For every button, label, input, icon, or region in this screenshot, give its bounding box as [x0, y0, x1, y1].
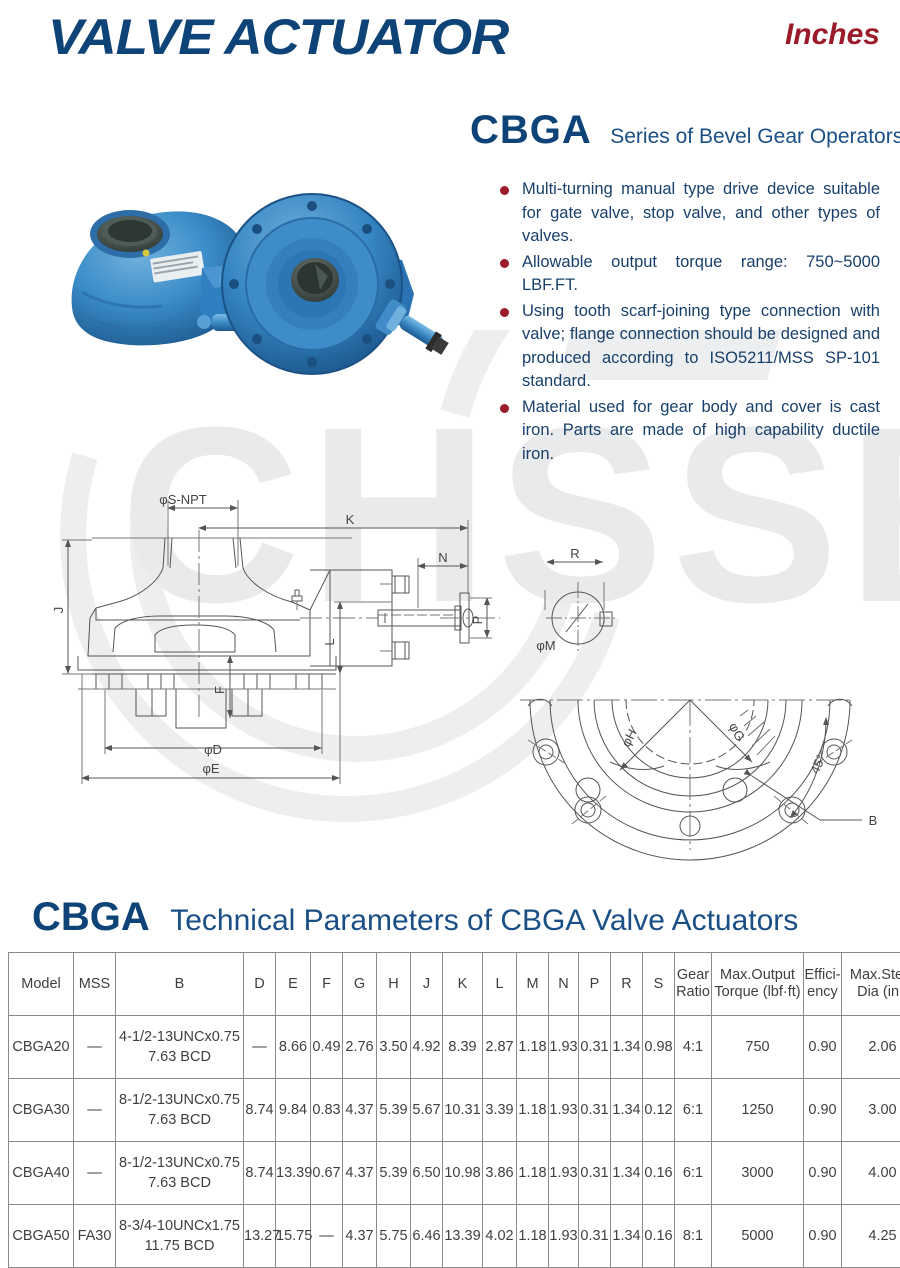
label-p: P	[470, 616, 485, 625]
col-header-l: L	[483, 953, 517, 1016]
list-item: Material used for gear body and cover is…	[500, 396, 880, 467]
col-header-stem-dia: Max.StemDia (in.)	[842, 953, 900, 1016]
list-item: Using tooth scarf-joining type connectio…	[500, 300, 880, 394]
feature-text: Multi-turning manual type drive device s…	[522, 178, 880, 249]
bullet-dot-icon	[500, 404, 509, 413]
cell-g: 4.37	[343, 1079, 377, 1142]
cell-mss: —	[74, 1079, 116, 1142]
cell-n: 1.93	[549, 1016, 579, 1079]
col-header-k: K	[443, 953, 483, 1016]
label-m: φM	[536, 638, 555, 653]
cell-s: 0.98	[643, 1016, 675, 1079]
cell-k: 8.39	[443, 1016, 483, 1079]
cell-efficiency: 0.90	[804, 1142, 842, 1205]
product-photos	[62, 172, 482, 387]
cell-m: 1.18	[517, 1016, 549, 1079]
cell-r: 1.34	[611, 1142, 643, 1205]
label-h: φH	[618, 726, 640, 749]
label-d: φD	[204, 742, 222, 757]
cell-gear-ratio: 4:1	[675, 1016, 712, 1079]
cell-stem-dia: 4.25	[842, 1205, 900, 1268]
label-l: L	[322, 638, 337, 645]
product-photo-illustration	[62, 172, 482, 387]
cell-h: 5.39	[377, 1142, 411, 1205]
cell-e: 8.66	[276, 1016, 311, 1079]
cell-mss: FA30	[74, 1205, 116, 1268]
cell-k: 10.31	[443, 1079, 483, 1142]
list-item: Multi-turning manual type drive device s…	[500, 178, 880, 249]
table-row: CBGA30 — 8-1/2-13UNCx0.757.63 BCD 8.74 9…	[9, 1079, 900, 1142]
cell-k: 13.39	[443, 1205, 483, 1268]
cell-f: 0.83	[311, 1079, 343, 1142]
cell-j: 5.67	[411, 1079, 443, 1142]
cell-j: 6.46	[411, 1205, 443, 1268]
label-n: N	[438, 550, 447, 565]
cell-p: 0.31	[579, 1205, 611, 1268]
cell-k: 10.98	[443, 1142, 483, 1205]
series-description: Series of Bevel Gear Operators	[610, 125, 900, 148]
label-f: F	[212, 686, 227, 694]
cell-b: 4-1/2-13UNCx0.757.63 BCD	[116, 1016, 244, 1079]
cell-stem-dia: 3.00	[842, 1079, 900, 1142]
table-heading: CBGA Technical Parameters of CBGA Valve …	[32, 895, 798, 940]
list-item: Allowable output torque range: 750~5000 …	[500, 251, 880, 298]
cell-model: CBGA20	[9, 1016, 74, 1079]
cell-e: 13.39	[276, 1142, 311, 1205]
dimension-drawing: φS-NPT K N R φM φD φE B J L F P φH φG 45…	[0, 470, 900, 870]
cell-model: CBGA30	[9, 1079, 74, 1142]
unit-label: Inches	[785, 18, 880, 52]
cell-h: 5.75	[377, 1205, 411, 1268]
col-header-b: B	[116, 953, 244, 1016]
bullet-dot-icon	[500, 186, 509, 195]
series-heading: CBGA Series of Bevel Gear Operators	[470, 108, 900, 153]
label-g: φG	[726, 720, 748, 743]
col-header-d: D	[244, 953, 276, 1016]
col-header-r: R	[611, 953, 643, 1016]
cell-mss: —	[74, 1016, 116, 1079]
label-r: R	[570, 546, 579, 561]
spec-table: Model MSS B D E F G H J K L M N P R S Ge…	[8, 952, 900, 1268]
cell-gear-ratio: 6:1	[675, 1079, 712, 1142]
label-e: φE	[202, 761, 219, 776]
cell-model: CBGA50	[9, 1205, 74, 1268]
cell-p: 0.31	[579, 1142, 611, 1205]
cell-j: 4.92	[411, 1016, 443, 1079]
cell-e: 15.75	[276, 1205, 311, 1268]
cell-d: 13.27	[244, 1205, 276, 1268]
col-header-mss: MSS	[74, 953, 116, 1016]
cell-gear-ratio: 6:1	[675, 1142, 712, 1205]
col-header-model: Model	[9, 953, 74, 1016]
cell-e: 9.84	[276, 1079, 311, 1142]
table-row: CBGA40 — 8-1/2-13UNCx0.757.63 BCD 8.74 1…	[9, 1142, 900, 1205]
header-divider	[0, 72, 900, 74]
cell-f: 0.49	[311, 1016, 343, 1079]
bullet-dot-icon	[500, 259, 509, 268]
cell-s: 0.16	[643, 1205, 675, 1268]
cell-l: 2.87	[483, 1016, 517, 1079]
col-header-max-torque: Max.OutputTorque (lbf·ft)	[712, 953, 804, 1016]
cell-max-torque: 750	[712, 1016, 804, 1079]
table-series-code: CBGA	[32, 895, 150, 939]
page-title: VALVE ACTUATOR	[48, 8, 508, 66]
table-header-row: Model MSS B D E F G H J K L M N P R S Ge…	[9, 953, 900, 1016]
cell-max-torque: 5000	[712, 1205, 804, 1268]
cell-j: 6.50	[411, 1142, 443, 1205]
cell-stem-dia: 4.00	[842, 1142, 900, 1205]
col-header-j: J	[411, 953, 443, 1016]
cell-n: 1.93	[549, 1079, 579, 1142]
table-row: CBGA50 FA30 8-3/4-10UNCx1.7511.75 BCD 13…	[9, 1205, 900, 1268]
table-row: CBGA20 — 4-1/2-13UNCx0.757.63 BCD — 8.66…	[9, 1016, 900, 1079]
cell-p: 0.31	[579, 1079, 611, 1142]
label-angle: 45°	[807, 752, 829, 776]
cell-max-torque: 1250	[712, 1079, 804, 1142]
cell-d: 8.74	[244, 1079, 276, 1142]
cell-model: CBGA40	[9, 1142, 74, 1205]
series-code: CBGA	[470, 108, 592, 152]
col-header-m: M	[517, 953, 549, 1016]
cell-l: 3.39	[483, 1079, 517, 1142]
cell-n: 1.93	[549, 1142, 579, 1205]
page-header: VALVE ACTUATOR Inches	[0, 0, 900, 72]
cell-g: 4.37	[343, 1205, 377, 1268]
cell-m: 1.18	[517, 1205, 549, 1268]
cell-r: 1.34	[611, 1079, 643, 1142]
cell-l: 4.02	[483, 1205, 517, 1268]
col-header-h: H	[377, 953, 411, 1016]
cell-b: 8-3/4-10UNCx1.7511.75 BCD	[116, 1205, 244, 1268]
table-title: Technical Parameters of CBGA Valve Actua…	[170, 904, 798, 937]
col-header-f: F	[311, 953, 343, 1016]
cell-r: 1.34	[611, 1016, 643, 1079]
cell-f: 0.67	[311, 1142, 343, 1205]
cell-f: —	[311, 1205, 343, 1268]
actuator-right	[222, 194, 450, 374]
cell-g: 4.37	[343, 1142, 377, 1205]
feature-list: Multi-turning manual type drive device s…	[500, 178, 880, 468]
feature-text: Material used for gear body and cover is…	[522, 396, 880, 467]
col-header-g: G	[343, 953, 377, 1016]
cell-m: 1.18	[517, 1079, 549, 1142]
label-b: B	[869, 813, 878, 828]
cell-d: 8.74	[244, 1142, 276, 1205]
cell-b: 8-1/2-13UNCx0.757.63 BCD	[116, 1079, 244, 1142]
bullet-dot-icon	[500, 308, 509, 317]
col-header-p: P	[579, 953, 611, 1016]
cell-p: 0.31	[579, 1016, 611, 1079]
feature-text: Allowable output torque range: 750~5000 …	[522, 251, 880, 298]
cell-stem-dia: 2.06	[842, 1016, 900, 1079]
cell-efficiency: 0.90	[804, 1205, 842, 1268]
label-s-npt: φS-NPT	[159, 492, 206, 507]
col-header-n: N	[549, 953, 579, 1016]
cell-b: 8-1/2-13UNCx0.757.63 BCD	[116, 1142, 244, 1205]
cell-r: 1.34	[611, 1205, 643, 1268]
cell-gear-ratio: 8:1	[675, 1205, 712, 1268]
cell-s: 0.12	[643, 1079, 675, 1142]
cell-d: —	[244, 1016, 276, 1079]
cell-max-torque: 3000	[712, 1142, 804, 1205]
cell-l: 3.86	[483, 1142, 517, 1205]
feature-text: Using tooth scarf-joining type connectio…	[522, 300, 880, 394]
col-header-gear-ratio: GearRatio	[675, 953, 712, 1016]
label-k: K	[346, 512, 355, 527]
cell-h: 5.39	[377, 1079, 411, 1142]
label-j: J	[51, 607, 66, 614]
cell-efficiency: 0.90	[804, 1079, 842, 1142]
cell-n: 1.93	[549, 1205, 579, 1268]
cell-mss: —	[74, 1142, 116, 1205]
col-header-e: E	[276, 953, 311, 1016]
cell-m: 1.18	[517, 1142, 549, 1205]
cell-h: 3.50	[377, 1016, 411, 1079]
cell-g: 2.76	[343, 1016, 377, 1079]
cell-s: 0.16	[643, 1142, 675, 1205]
cell-efficiency: 0.90	[804, 1016, 842, 1079]
technical-drawing: φS-NPT K N R φM φD φE B J L F P φH φG 45…	[0, 470, 900, 870]
col-header-s: S	[643, 953, 675, 1016]
col-header-efficiency: Effici-ency	[804, 953, 842, 1016]
